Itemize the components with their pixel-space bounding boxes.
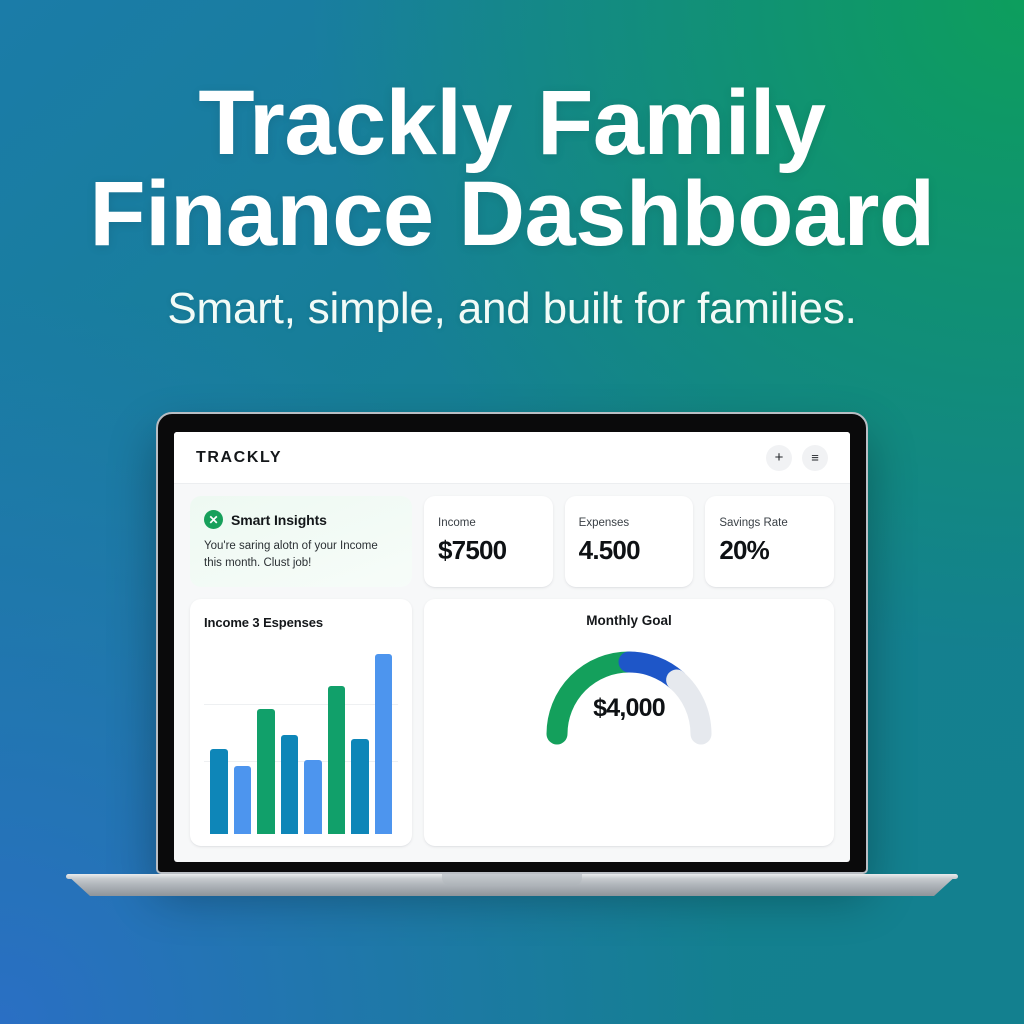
- kpi-card-expenses[interactable]: Expenses 4.500: [565, 496, 694, 587]
- monthly-goal-card[interactable]: Monthly Goal $4,000: [424, 599, 834, 846]
- insights-title: Smart Insights: [231, 512, 327, 528]
- bar: [210, 749, 228, 834]
- bar-series: [210, 644, 392, 834]
- page-subtitle: Smart, simple, and built for families.: [0, 284, 1024, 334]
- bottom-row: Income 3 Espenses Monthly Goal: [190, 599, 834, 846]
- bar-chart-title: Income 3 Espenses: [204, 615, 398, 630]
- smart-insights-card[interactable]: ✕ Smart Insights You're saring alotn of …: [190, 496, 412, 587]
- kpi-label: Expenses: [579, 517, 680, 529]
- kpi-label: Savings Rate: [719, 517, 820, 529]
- dashboard-body: ✕ Smart Insights You're saring alotn of …: [174, 484, 850, 862]
- laptop-screen: TRACKLY + ≡ ✕ Smart Insights You're sari…: [174, 432, 850, 862]
- bar: [375, 654, 393, 834]
- kpi-label: Income: [438, 517, 539, 529]
- header-actions: + ≡: [766, 445, 828, 471]
- insights-message: You're saring alotn of your Income this …: [204, 538, 389, 571]
- gauge-chart: $4,000: [535, 638, 723, 750]
- bar: [304, 760, 322, 834]
- laptop-mockup: TRACKLY + ≡ ✕ Smart Insights You're sari…: [156, 412, 868, 874]
- top-row: ✕ Smart Insights You're saring alotn of …: [190, 496, 834, 587]
- hero-section: Trackly Family Finance Dashboard Smart, …: [0, 78, 1024, 334]
- gauge-title: Monthly Goal: [586, 613, 672, 628]
- bar: [257, 709, 275, 834]
- kpi-value: $7500: [438, 535, 539, 566]
- page-title: Trackly Family Finance Dashboard: [0, 78, 1024, 260]
- bar-chart-plot: [204, 644, 398, 834]
- insights-header: ✕ Smart Insights: [204, 510, 398, 529]
- kpi-group: Income $7500 Expenses 4.500 Savings Rate…: [424, 496, 834, 587]
- plus-icon[interactable]: +: [766, 445, 792, 471]
- laptop-base-notch: [442, 874, 582, 885]
- app-brand-logo: TRACKLY: [196, 449, 282, 467]
- sparkle-icon: ✕: [204, 510, 223, 529]
- kpi-card-savings-rate[interactable]: Savings Rate 20%: [705, 496, 834, 587]
- kpi-card-income[interactable]: Income $7500: [424, 496, 553, 587]
- bar: [351, 739, 369, 834]
- page-title-line-1: Trackly Family: [198, 72, 825, 174]
- page-title-line-2: Finance Dashboard: [89, 163, 934, 265]
- bar: [281, 735, 299, 834]
- laptop-base: [66, 874, 958, 916]
- bar: [234, 766, 252, 834]
- bar-chart-card[interactable]: Income 3 Espenses: [190, 599, 412, 846]
- bar: [328, 686, 346, 834]
- kpi-value: 20%: [719, 535, 820, 566]
- gauge-value: $4,000: [535, 694, 723, 723]
- kpi-value: 4.500: [579, 535, 680, 566]
- laptop-lid: TRACKLY + ≡ ✕ Smart Insights You're sari…: [156, 412, 868, 874]
- hamburger-menu-icon[interactable]: ≡: [802, 445, 828, 471]
- app-header: TRACKLY + ≡: [174, 432, 850, 484]
